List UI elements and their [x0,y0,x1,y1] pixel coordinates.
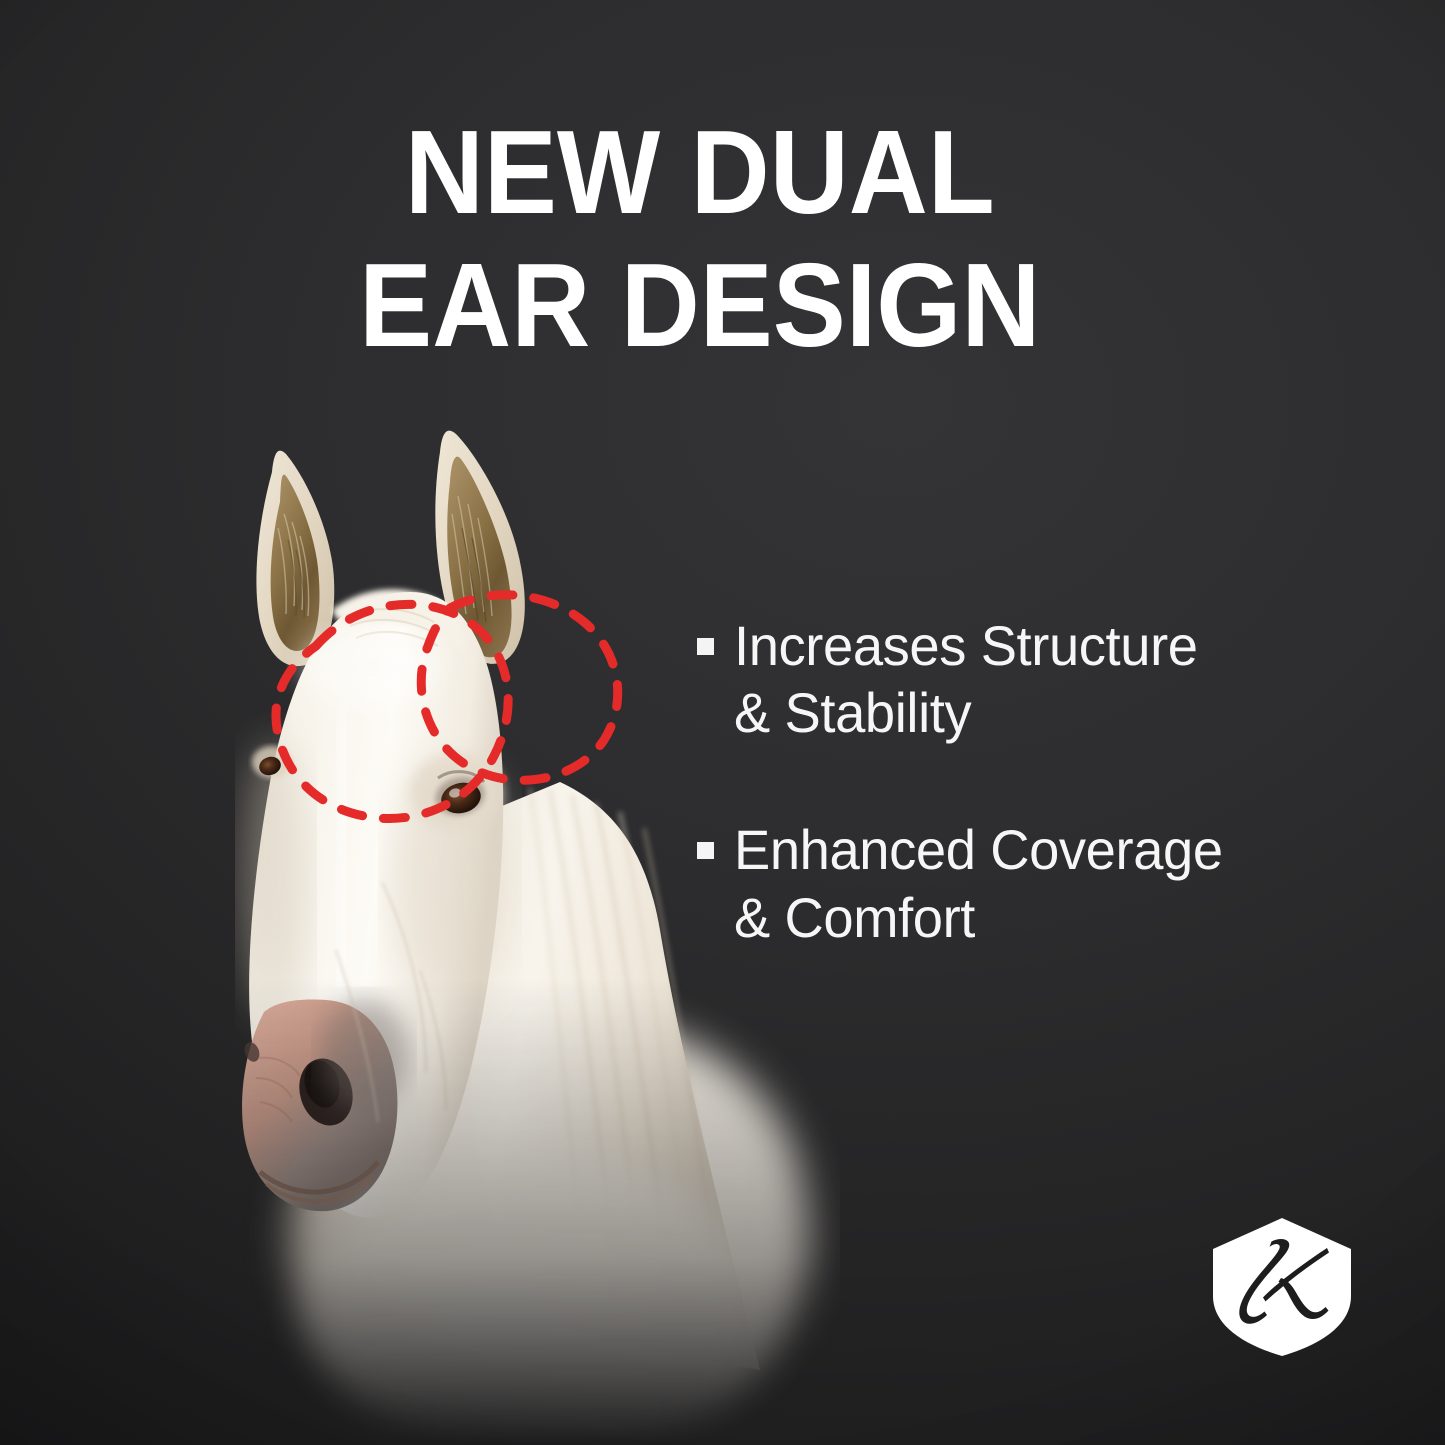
bullet-text-line-1: Increases Structure [734,614,1198,677]
bullet-text-line-2: & Stability [734,681,971,744]
brand-logo [1207,1216,1357,1358]
promo-graphic: NEW DUAL EAR DESIGN Increases Structure … [0,0,1445,1445]
bullet-text-line-1: Enhanced Coverage [734,818,1223,881]
page-title-line-1: NEW DUAL [272,116,1128,230]
feature-bullet-list: Increases Structure & Stability Enhanced… [697,612,1377,951]
page-title-line-2: EAR DESIGN [272,249,1128,363]
horse-eye-left [252,746,292,778]
bullet-square-icon [697,842,714,859]
horse-ear-left [256,451,334,667]
bullet-text: Enhanced Coverage & Comfort [734,816,1223,950]
horse-eye-right [410,754,502,830]
list-item: Enhanced Coverage & Comfort [697,816,1377,950]
bullet-text-line-2: & Comfort [734,886,975,949]
page-title: NEW DUAL EAR DESIGN [272,116,1128,363]
bullet-text: Increases Structure & Stability [734,612,1198,746]
list-item: Increases Structure & Stability [697,612,1377,746]
bullet-square-icon [697,638,714,655]
